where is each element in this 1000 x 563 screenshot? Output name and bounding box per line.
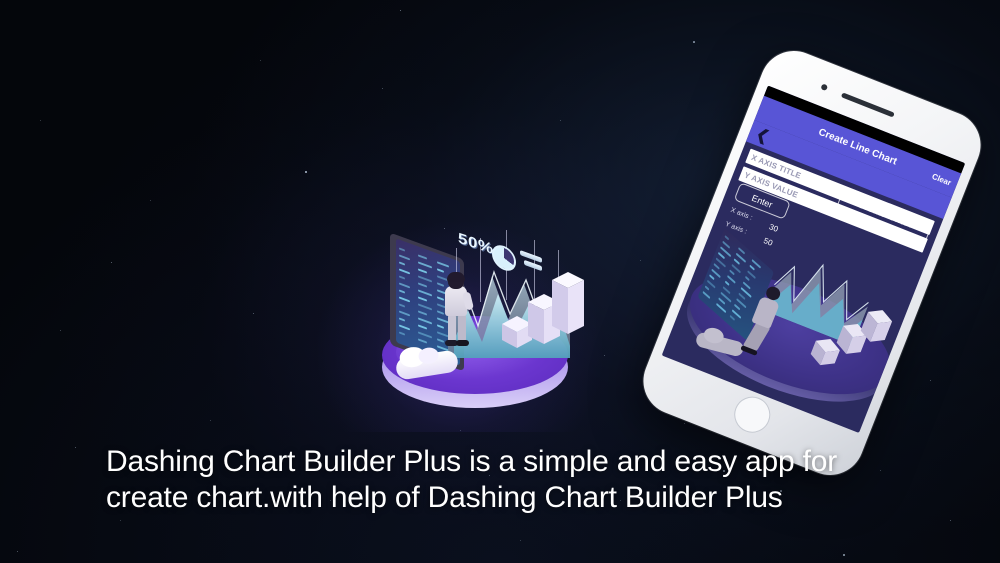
phone-mockup: Create Line Chart Clear ❮ X AXIS TITLE Y… [650,60,980,450]
app-board-text-line [725,281,730,286]
board-text-line [399,275,405,279]
app-board-text-line [738,247,745,254]
star [60,330,61,331]
person-shoe-right [456,340,469,346]
board-text-line [399,247,405,251]
board-text-line [437,338,444,343]
board-text-line [399,303,405,307]
star [253,313,254,314]
board-text-line [437,310,444,315]
star [693,41,695,43]
star [843,554,845,556]
star [382,88,383,89]
app-board-text-line [745,276,750,281]
board-text-line [418,275,432,282]
board-text-line [418,254,427,259]
board-text-line [437,296,444,301]
app-board-text-line [716,303,726,313]
chart-stick [534,240,535,302]
board-text-line [418,261,432,268]
star [640,260,641,261]
app-board-text-line [725,235,730,240]
board-text-line [399,296,410,302]
phone-screen: Create Line Chart Clear ❮ X AXIS TITLE Y… [662,86,966,434]
star [520,540,521,541]
app-board-text-line [722,241,730,249]
board-text-line [418,282,427,287]
app-board-text-line [750,265,755,271]
board-text-line [399,317,405,321]
caption-text: Dashing Chart Builder Plus is a simple a… [106,444,886,516]
star [260,60,261,61]
board-text-line [418,296,427,301]
app-board-text-line [723,286,731,294]
person-leg-right [458,314,466,342]
board-text-line [399,261,405,265]
star [210,420,211,421]
app-board-text-line [730,315,735,321]
front-camera-icon [820,83,828,91]
caption-line-1: Dashing Chart Builder Plus is a simple a… [106,444,886,480]
app-board-text-line [705,285,710,290]
app-board-text-line [739,293,746,300]
home-button[interactable] [729,391,776,438]
app-board-text-line [729,269,734,275]
app-board-text-line [743,281,751,289]
chevron-left-icon[interactable]: ❮ [754,126,771,145]
isometric-analytics-illustration: 50% [352,222,568,422]
board-text-line [399,254,410,260]
star [950,520,951,521]
clear-button[interactable]: Clear [931,172,953,188]
board-text-line [437,282,444,287]
star [560,120,561,121]
board-text-line [399,282,410,288]
app-board-text-line [709,274,714,280]
board-text-line [418,331,432,338]
star [150,200,151,201]
star [75,447,76,448]
board-text-line [399,310,410,316]
star [17,551,18,552]
screenshot-canvas: 50% [0,0,1000,563]
board-text-line [399,289,405,293]
app-board-text-line [703,291,711,299]
phone-device-frame: Create Line Chart Clear ❮ X AXIS TITLE Y… [633,41,990,485]
board-text-line [399,324,410,330]
star [111,262,112,263]
board-text-line [437,324,444,329]
board-text-line [418,289,432,296]
star [40,120,41,121]
board-text-line [418,268,427,273]
person-leg-left [448,314,456,342]
app-board-text-line [734,304,740,310]
board-text-line [418,324,427,329]
board-text-line [418,303,432,310]
star [400,10,401,11]
caption-line-2: create chart.with help of Dashing Chart … [106,480,886,516]
app-board-text-line [718,297,725,304]
board-text-line [399,268,410,274]
cube-large [552,272,584,341]
app-board-text-line [718,252,725,259]
star [604,355,605,356]
earpiece-speaker [841,92,895,117]
app-board-text-line [714,263,720,269]
app-board-text-line [734,258,740,264]
star [120,520,121,521]
star [305,171,307,173]
person-hair [447,272,465,282]
board-text-line [399,331,405,335]
board-text-line [437,268,444,273]
board-text-line [418,338,427,343]
board-text-line [418,317,432,324]
board-text-line [418,310,427,315]
